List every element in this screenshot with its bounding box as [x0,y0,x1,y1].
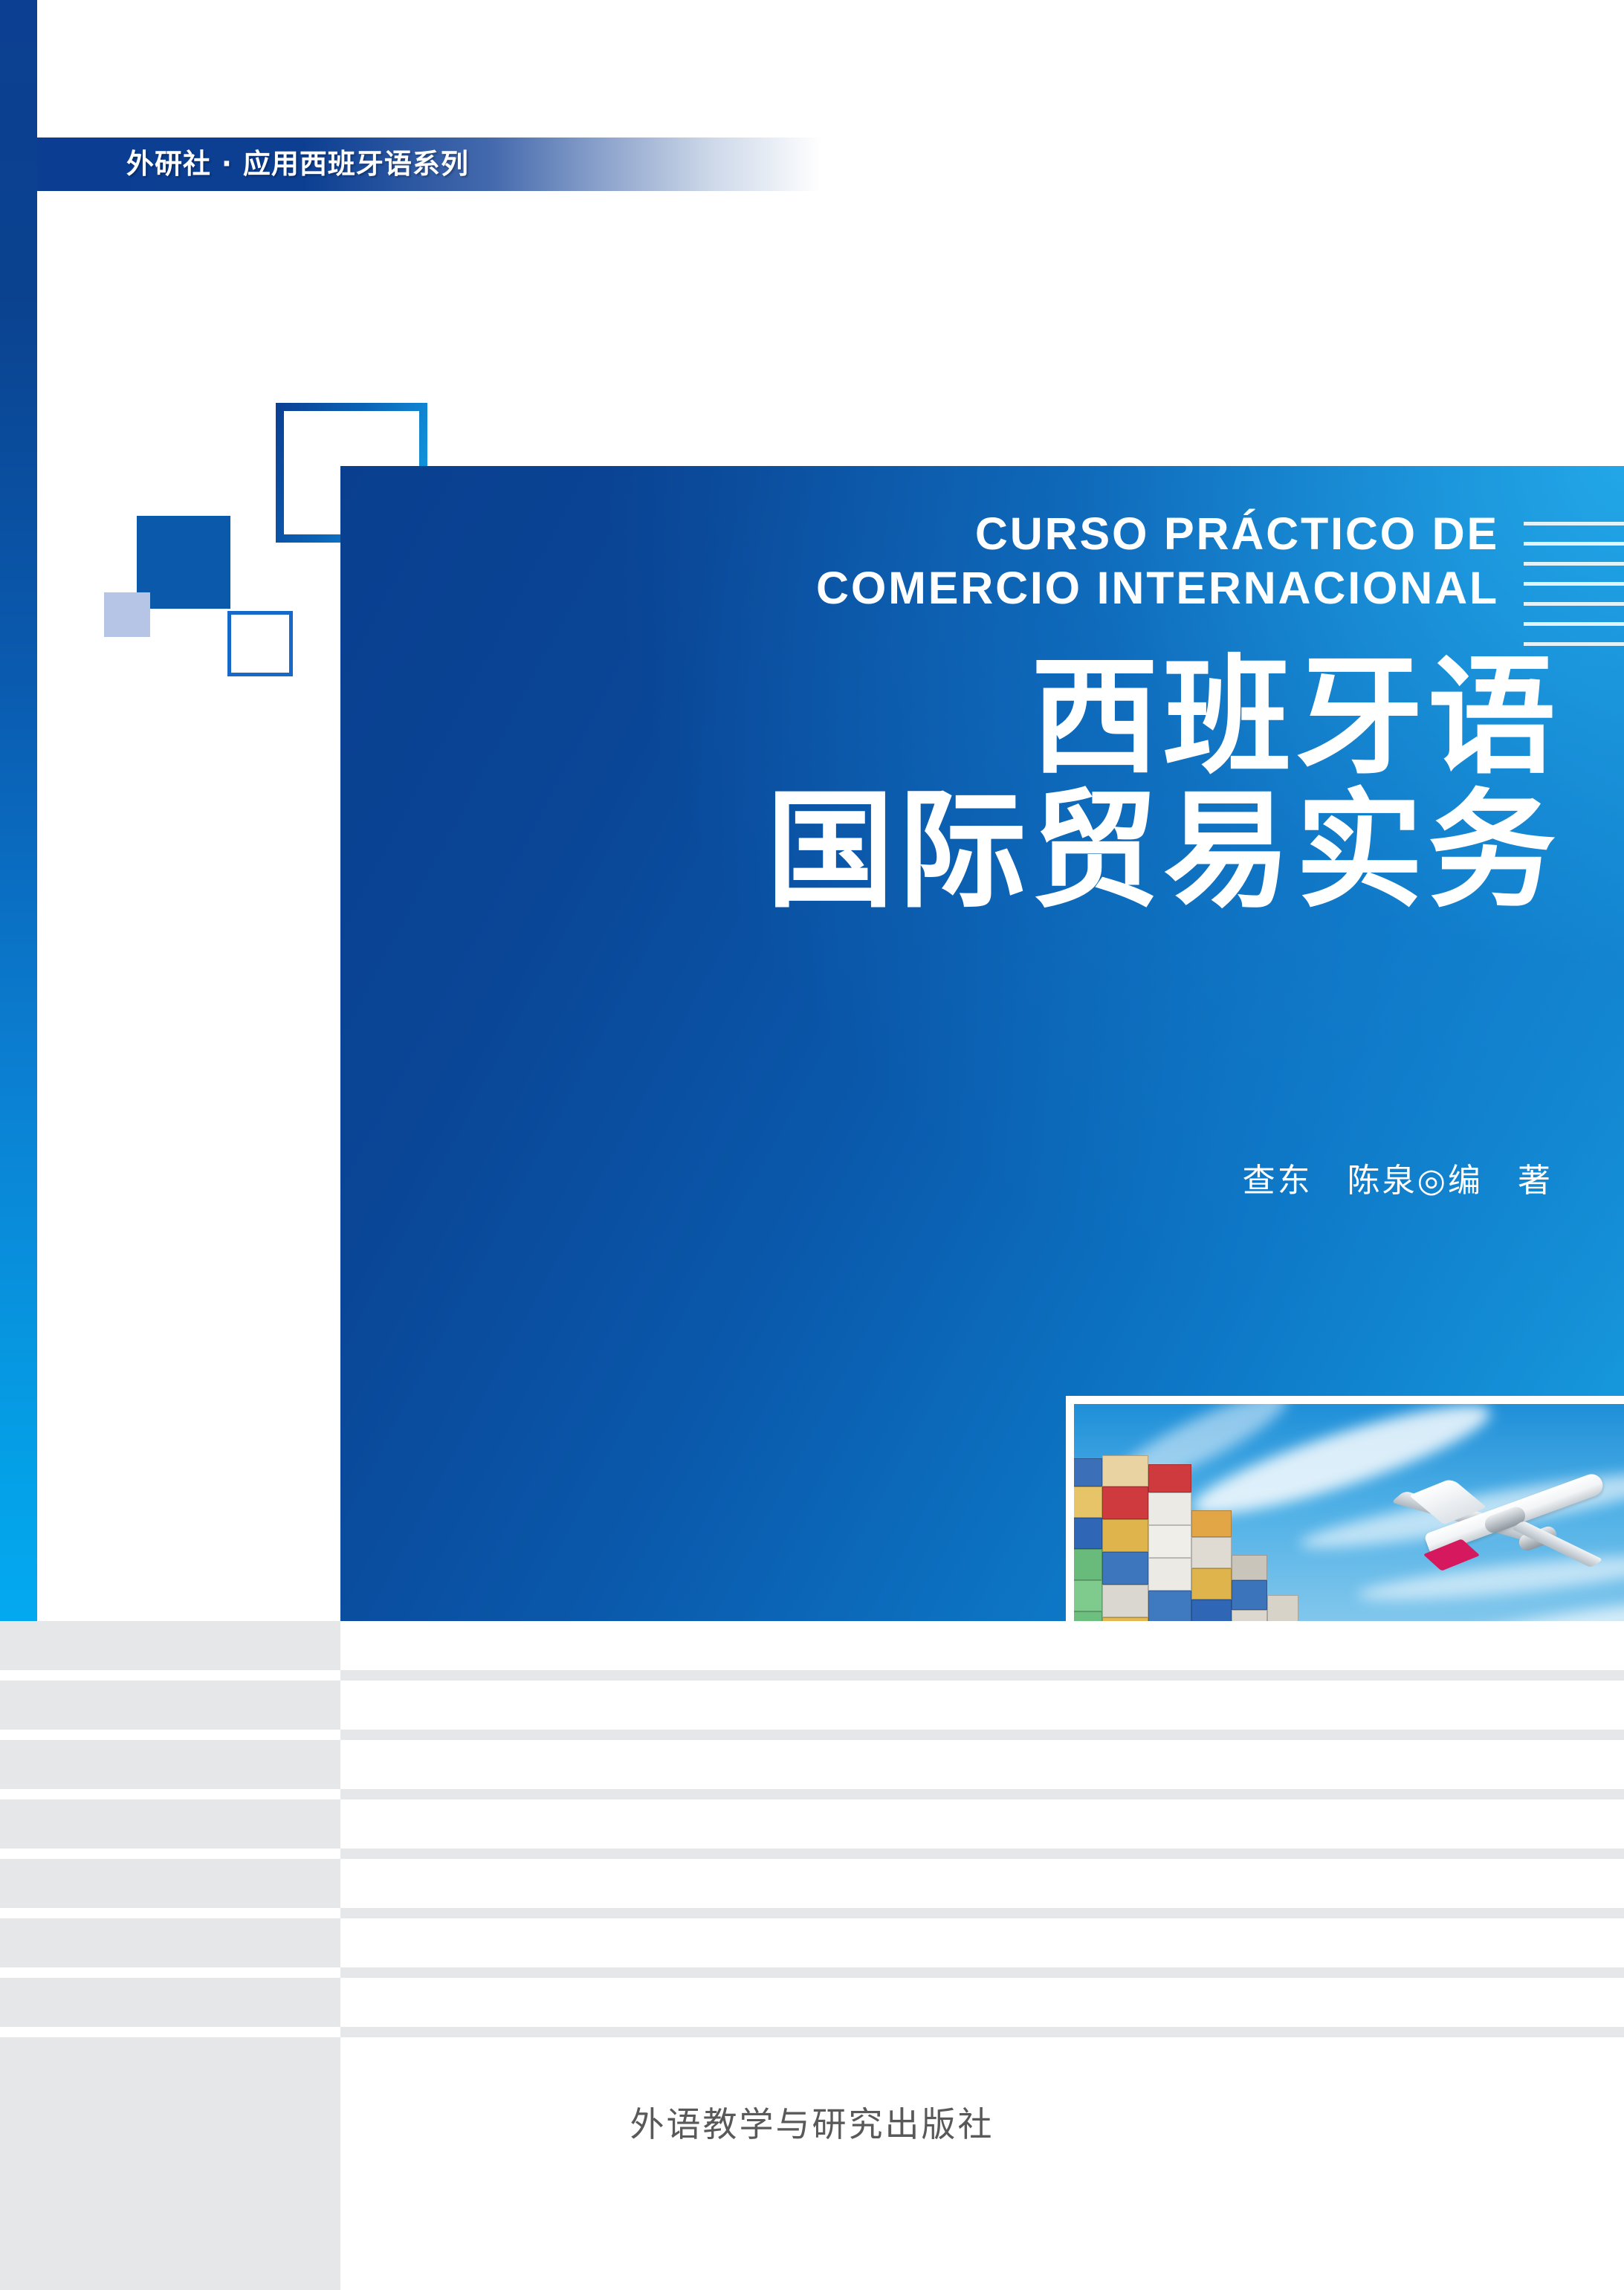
deco-square-outline-small-icon [227,611,293,676]
stripe-row [340,1967,1624,1978]
author-credit: 查东 陈泉◎编 著 [661,1154,1553,1201]
stripe-row [340,1908,1624,1918]
bottom-stripe-band [0,1621,1624,2290]
spanish-title: CURSO PRÁCTICO DE COMERCIO INTERNACIONAL [355,507,1499,615]
stripe-row [0,2037,340,2290]
stripe-row [0,1740,340,1789]
airplane-icon [1373,1462,1618,1611]
chinese-title-line-2: 国际贸易实务 [371,784,1560,918]
stripe-row [340,1730,1624,1740]
stripe-row [0,1859,340,1908]
spanish-title-line-1: CURSO PRÁCTICO DE [355,507,1499,561]
stripe-row [340,1670,1624,1681]
stripe-row [0,1978,340,2027]
chinese-title-line-1: 西班牙语 [371,650,1560,784]
left-spine-bar [0,0,37,1621]
stripe-row [340,1849,1624,1859]
stripe-row [340,2027,1624,2037]
stripe-row [0,1621,340,1670]
deco-square-fill-small-icon [104,592,150,637]
chinese-title: 西班牙语 国际贸易实务 [371,650,1560,918]
publisher-name: 外语教学与研究出版社 [0,2097,1624,2147]
stripe-row [340,1789,1624,1799]
deco-ruled-lines-icon [1524,522,1624,644]
series-banner-label: 外研社 · 应用西班牙语系列 [126,141,795,187]
deco-square-fill-medium-icon [137,516,230,609]
stripe-row [0,1918,340,1967]
book-cover: 外研社 · 应用西班牙语系列 CURSO PRÁCTICO DE COMERCI… [0,0,1624,2290]
stripe-row [0,1681,340,1730]
spanish-title-line-2: COMERCIO INTERNACIONAL [355,561,1499,615]
stripe-row [0,1799,340,1849]
